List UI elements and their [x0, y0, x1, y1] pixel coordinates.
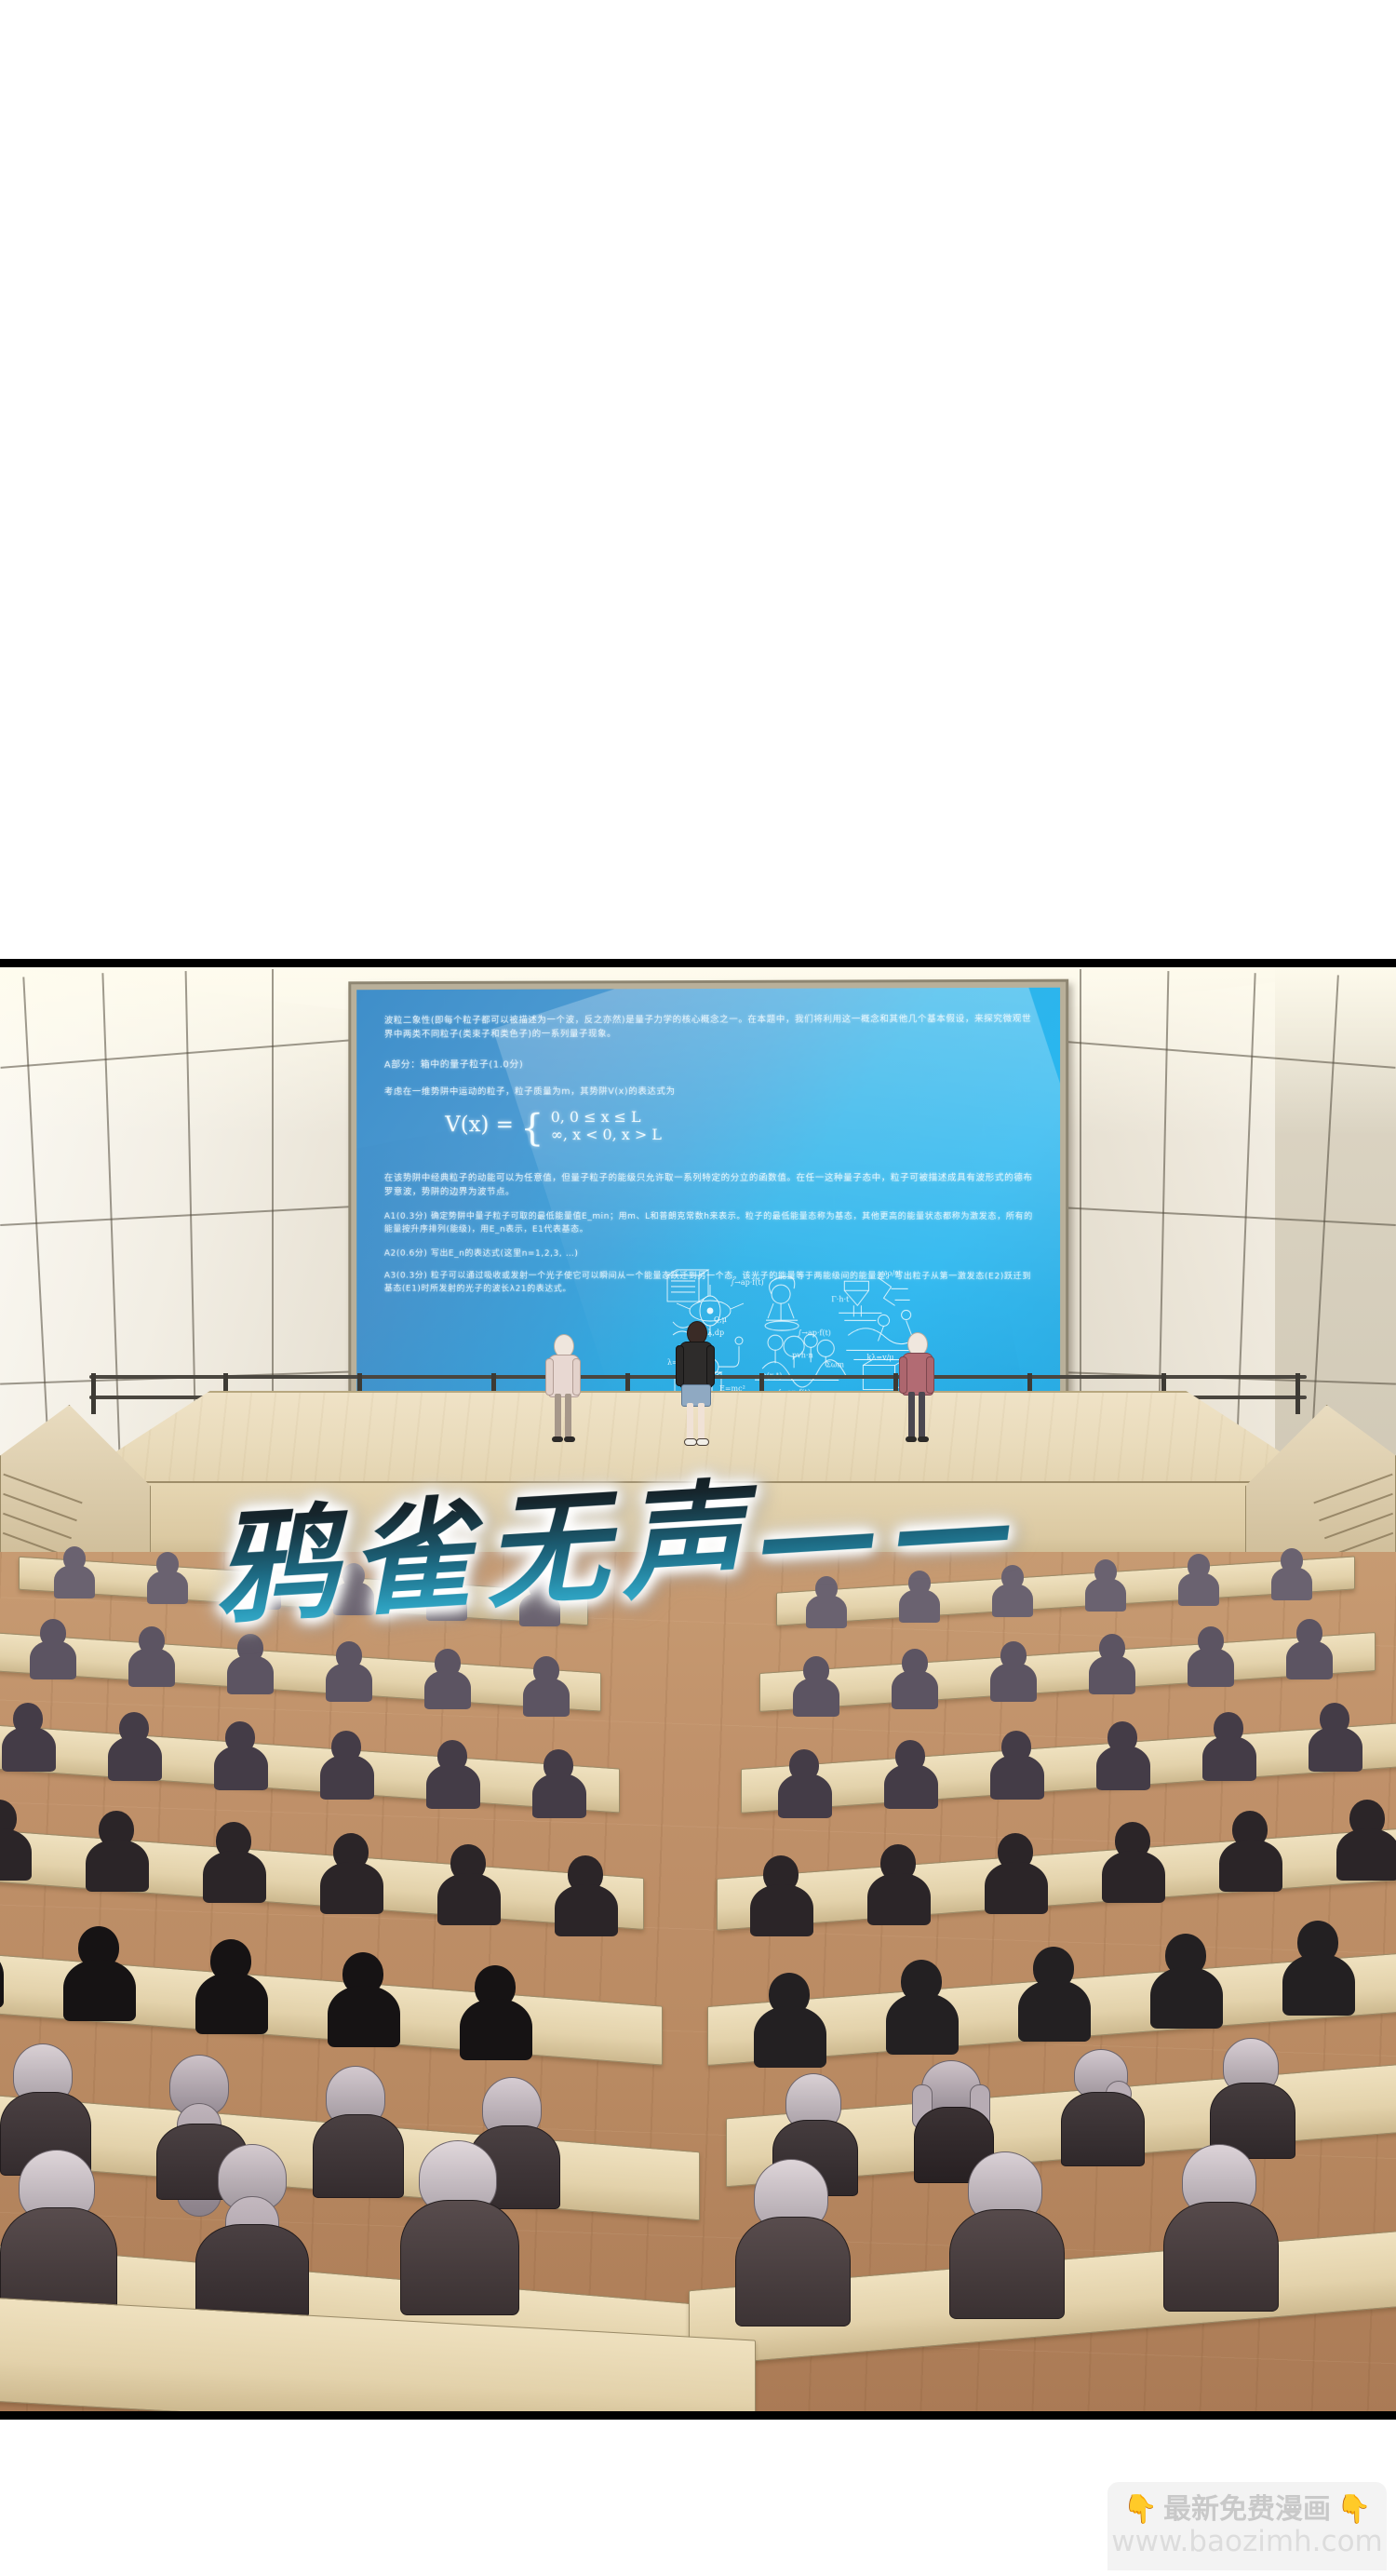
pointing-down-hand-icon-left: 👇	[1123, 2496, 1158, 2524]
pointing-down-hand-icon-right: 👇	[1336, 2496, 1371, 2524]
comic-page: 波粒二象性(即每个粒子都可以被描述为一个波，反之亦然)是量子力学的核心概念之一。…	[0, 0, 1396, 2576]
svg-text:Q,μ: Q,μ	[714, 1315, 727, 1324]
desk	[0, 2286, 756, 2411]
svg-text:Γ·h·t: Γ·h·t	[831, 1295, 850, 1303]
arm-left	[899, 1356, 907, 1394]
screen-question-a1: A1(0.3分) 确定势阱中量子粒子可取的最低能量值E_min；用m、L和普朗克…	[384, 1210, 1040, 1236]
site-watermark[interactable]: 👇 最新免费漫画 👇 www.baozimh.com	[1107, 2482, 1387, 2570]
panel-divider-bottom	[0, 2411, 1396, 2420]
screen-section-heading: A部分：箱中的量子粒子(1.0分)	[384, 1057, 1040, 1072]
screen-paragraph-2: 考虑在一维势阱中运动的粒子，粒子质量为m，其势阱V(x)的表达式为	[384, 1084, 1040, 1099]
desk	[0, 1632, 601, 1711]
svg-text:∫→ap·f(t): ∫→ap·f(t)	[731, 1278, 764, 1287]
formula-case-1: 0, 0 ≤ x ≤ L	[551, 1108, 662, 1126]
svg-text:∂ρ/∂t: ∂ρ/∂t	[883, 1269, 902, 1277]
stage-person-left	[544, 1334, 582, 1446]
formula-lhs: V(x) =	[445, 1113, 514, 1137]
watermark-url[interactable]: www.baozimh.com	[1111, 2528, 1383, 2556]
top-gutter	[0, 0, 1396, 959]
screen-question-a2: A2(0.6分) 写出E_n的表达式(这里n=1,2,3, …)	[384, 1248, 1040, 1261]
arm-right	[706, 1345, 715, 1386]
svg-text:∫→ap·f(t): ∫→ap·f(t)	[798, 1328, 831, 1337]
formula-brace: {	[520, 1107, 544, 1150]
arm-right	[572, 1358, 581, 1396]
screen-formula: V(x) = { 0, 0 ≤ x ≤ L ∞, x < 0, x > L	[445, 1108, 662, 1143]
arm-right	[926, 1356, 934, 1394]
desk	[759, 1632, 1376, 1712]
formula-case-2: ∞, x < 0, x > L	[551, 1126, 662, 1143]
legs	[544, 1394, 582, 1446]
desk	[741, 1722, 1396, 1814]
arm-left	[676, 1345, 684, 1386]
panel-divider-top	[0, 959, 1396, 967]
formula-cases: 0, 0 ≤ x ≤ L ∞, x < 0, x > L	[551, 1108, 662, 1143]
svg-text:pvh·n: pvh·n	[792, 1351, 813, 1359]
lecture-hall-panel: 波粒二象性(即每个粒子都可以被描述为一个波，反之亦然)是量子力学的核心概念之一。…	[0, 967, 1396, 2411]
watermark-text: 最新免费漫画	[1163, 2496, 1331, 2524]
foreground-cluster-left	[0, 2131, 651, 2411]
arm-left	[545, 1358, 554, 1396]
stage-person-center	[675, 1321, 716, 1448]
svg-text:Σωm: Σωm	[826, 1360, 844, 1369]
svg-text:kλ=v/μ: kλ=v/μ	[866, 1353, 893, 1361]
watermark-headline: 👇 最新免费漫画 👇	[1123, 2496, 1372, 2524]
seating-block-right	[745, 1563, 1396, 2271]
desk	[717, 1825, 1396, 1930]
screen-paragraph-1: 波粒二象性(即每个粒子都可以被描述为一个波，反之亦然)是量子力学的核心概念之一。…	[384, 1012, 1040, 1042]
desk	[0, 1722, 620, 1813]
screen-paragraph-3: 在该势阱中经典粒子的动能可以为任意值，但量子粒子的能级只允许取一系列特定的分立的…	[384, 1171, 1040, 1199]
